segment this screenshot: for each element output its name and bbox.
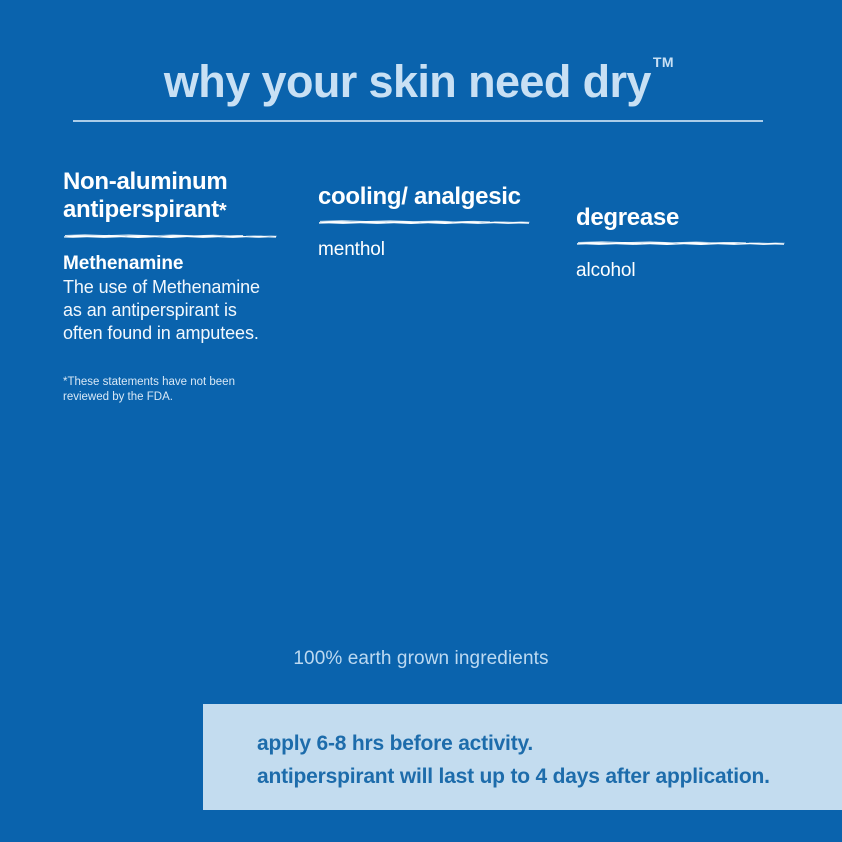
column-heading-text: Non-aluminum antiperspirant — [63, 168, 227, 223]
feature-column-cooling: cooling/ analgesic menthol — [318, 168, 533, 261]
column-heading: Non-aluminum antiperspirant* — [63, 168, 278, 225]
column-heading-text: degrease — [576, 204, 679, 231]
brush-underline-icon — [576, 238, 791, 247]
column-heading: cooling/ analgesic — [318, 183, 533, 211]
brush-underline-icon — [63, 231, 278, 240]
brush-underline-icon — [318, 217, 533, 226]
usage-line-1: apply 6-8 hrs before activity. — [257, 728, 770, 761]
page-title-block: why your skin need dryTM — [73, 58, 763, 105]
column-heading-wrap: Non-aluminum antiperspirant* — [63, 168, 278, 225]
feature-columns: Non-aluminum antiperspirant* Methenamine… — [0, 168, 842, 468]
column-heading-wrap: degrease — [576, 168, 791, 232]
ingredients-tagline: 100% earth grown ingredients — [0, 648, 842, 670]
column-footnote: *These statements have not been reviewed… — [63, 375, 278, 406]
column-subtitle: Methenamine — [63, 253, 278, 275]
column-subtitle: alcohol — [576, 260, 791, 282]
column-heading-text: cooling/ analgesic — [318, 183, 521, 210]
usage-line-2: antiperspirant will last up to 4 days af… — [257, 761, 770, 794]
column-subtitle: menthol — [318, 239, 533, 261]
poster-canvas: why your skin need dryTM Non-aluminum an… — [0, 0, 842, 842]
page-title: why your skin need dryTM — [73, 58, 763, 105]
feature-column-degrease: degrease alcohol — [576, 168, 791, 282]
asterisk-mark: * — [219, 200, 226, 222]
column-heading-wrap: cooling/ analgesic — [318, 168, 533, 211]
page-title-text: why your skin need dry — [164, 56, 651, 107]
column-body-text: The use of Methenamine as an antiperspir… — [63, 276, 278, 345]
usage-instructions-text: apply 6-8 hrs before activity. antipersp… — [257, 728, 770, 793]
feature-column-antiperspirant: Non-aluminum antiperspirant* Methenamine… — [63, 168, 278, 406]
usage-instructions-panel: apply 6-8 hrs before activity. antipersp… — [203, 704, 842, 810]
trademark-mark: TM — [653, 54, 674, 70]
column-heading: degrease — [576, 204, 791, 232]
title-divider — [73, 120, 763, 122]
